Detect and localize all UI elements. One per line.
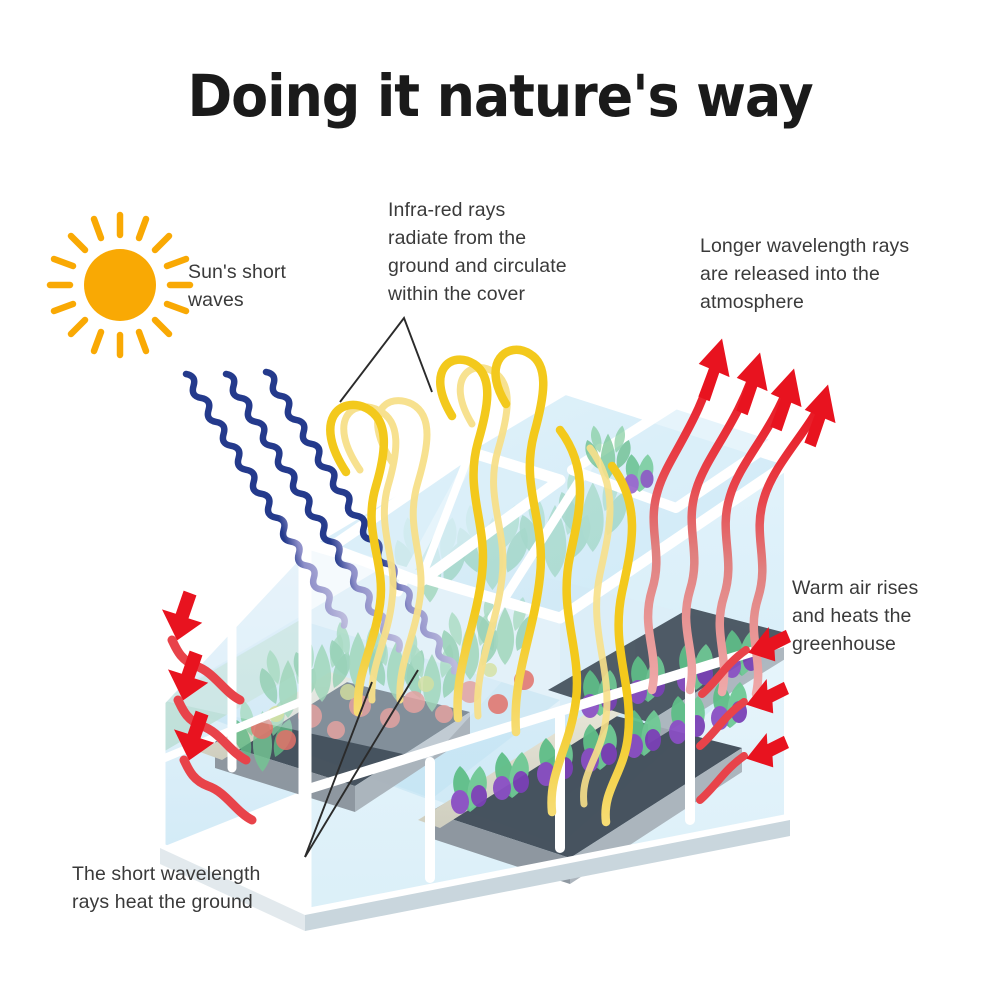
red-arrow-inside-right [700,650,746,800]
sun-icon [50,215,190,355]
caption-warm-air-rises: Warm air rises and heats the greenhouse [792,574,992,658]
leader-lines [305,318,432,857]
red-arrow-heads-up [691,335,844,451]
greenhouse-illustration [160,388,790,931]
caption-infra-red-rays: Infra-red rays radiate from the ground a… [388,196,603,308]
caption-sun-short-waves: Sun's short waves [188,258,368,314]
yellow-curved-ray-lines [330,350,632,822]
blue-wavy-ray-arrows [185,350,457,692]
caption-longer-wavelength-rays: Longer wavelength rays are released into… [700,232,950,316]
greenhouse-diagram [0,0,1000,1000]
infographic-canvas: Doing it nature's way [0,0,1000,1000]
red-arrow-inside-right-heads [741,623,794,774]
red-arrow-left-heads [159,588,219,762]
red-wavy-arrow-left [172,640,252,820]
caption-short-wavelength-rays: The short wavelength rays heat the groun… [72,860,322,916]
